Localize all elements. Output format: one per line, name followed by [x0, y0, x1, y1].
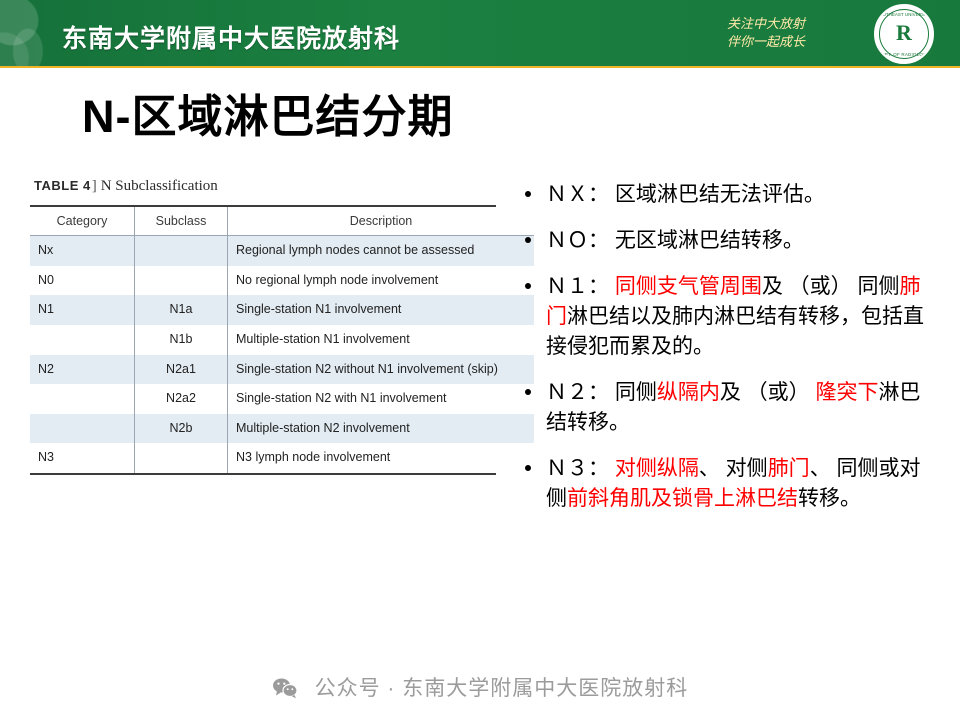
bullet-item-nx: ＮＸ： 区域淋巴结无法评估。	[520, 180, 940, 210]
bullet-dot-icon	[525, 389, 531, 395]
n-subclassification-figure: TABLE 4]N Subclassification Category Sub…	[30, 172, 496, 475]
table-row: Nx Regional lymph nodes cannot be assess…	[30, 236, 534, 266]
leaf-decoration-icon	[0, 0, 62, 68]
text-segment: 隆突下	[816, 381, 879, 404]
text-segment: ＮＸ： 区域淋巴结无法评估。	[546, 183, 825, 206]
hospital-logo: SOUTHEAST UNIVERSITY R DEPT. OF RADIOLOG…	[874, 4, 934, 64]
cell-description: Single-station N1 involvement	[228, 295, 535, 325]
header-slogan-line2: 伴你一起成长	[696, 33, 836, 51]
cell-subclass: N1a	[135, 295, 228, 325]
text-segment: Ｎ３：	[546, 457, 615, 480]
table-row: N0 No regional lymph node involvement	[30, 266, 534, 296]
column-header-category: Category	[30, 207, 135, 236]
cell-description: No regional lymph node involvement	[228, 266, 535, 296]
cell-subclass	[135, 443, 228, 473]
text-segment: 及 （或）	[720, 381, 816, 404]
table-row: N2 N2a1 Single-station N2 without N1 inv…	[30, 355, 534, 385]
bullet-item-n2: Ｎ２： 同侧纵隔内及 （或） 隆突下淋巴结转移。	[520, 378, 940, 438]
bullet-text-n2: Ｎ２： 同侧纵隔内及 （或） 隆突下淋巴结转移。	[546, 381, 921, 434]
header-title: 东南大学附属中大医院放射科	[62, 19, 400, 55]
header-bar: 东南大学附属中大医院放射科 关注中大放射 伴你一起成长 SOUTHEAST UN…	[0, 0, 960, 68]
column-header-subclass: Subclass	[135, 207, 228, 236]
text-segment: 及 （或） 同侧	[762, 275, 900, 298]
bullet-dot-icon	[525, 237, 531, 243]
header-slogan: 关注中大放射 伴你一起成长	[696, 15, 836, 51]
cell-description: Regional lymph nodes cannot be assessed	[228, 236, 535, 266]
cell-category: N1	[30, 295, 135, 325]
column-header-description: Description	[228, 207, 535, 236]
bullet-text-n3: Ｎ３： 对侧纵隔、 对侧肺门、 同侧或对侧前斜角肌及锁骨上淋巴结转移。	[546, 457, 921, 510]
bullet-item-n3: Ｎ３： 对侧纵隔、 对侧肺门、 同侧或对侧前斜角肌及锁骨上淋巴结转移。	[520, 454, 940, 514]
cell-description: Multiple-station N2 involvement	[228, 414, 535, 444]
cell-subclass: N2b	[135, 414, 228, 444]
logo-bottom-text: DEPT. OF RADIOLOGY	[876, 52, 932, 57]
text-segment: ＮＯ： 无区域淋巴结转移。	[546, 229, 804, 252]
cell-category	[30, 414, 135, 444]
text-segment: Ｎ２： 同侧	[546, 381, 657, 404]
figure-caption: TABLE 4]N Subclassification	[30, 172, 496, 205]
text-segment: 、 对侧	[699, 457, 768, 480]
cell-subclass	[135, 266, 228, 296]
table-row: N1 N1a Single-station N1 involvement	[30, 295, 534, 325]
table-label: TABLE 4	[34, 178, 91, 193]
table-caption-text: N Subclassification	[101, 178, 218, 194]
cell-category: Nx	[30, 236, 135, 266]
header-slogan-line1: 关注中大放射	[696, 15, 836, 33]
text-segment: 纵隔内	[657, 381, 720, 404]
logo-monogram: R	[876, 20, 932, 46]
bullet-text-nx: ＮＸ： 区域淋巴结无法评估。	[546, 183, 825, 206]
table-row: N2a2 Single-station N2 with N1 involveme…	[30, 384, 534, 414]
cell-subclass: N2a2	[135, 384, 228, 414]
text-segment: 淋巴结以及肺内淋巴结有转移，包括直接侵犯而累及的。	[546, 305, 924, 358]
cell-description: Single-station N2 with N1 involvement	[228, 384, 535, 414]
bullet-item-n0: ＮＯ： 无区域淋巴结转移。	[520, 226, 940, 256]
cell-subclass: N1b	[135, 325, 228, 355]
wechat-icon	[272, 677, 298, 699]
text-segment: 肺门	[768, 457, 810, 480]
cell-subclass: N2a1	[135, 355, 228, 385]
cell-category	[30, 384, 135, 414]
table-body: Nx Regional lymph nodes cannot be assess…	[30, 236, 534, 474]
logo-top-text: SOUTHEAST UNIVERSITY	[876, 12, 932, 17]
cell-description: N3 lymph node involvement	[228, 443, 535, 473]
table-label-bracket: ]	[91, 178, 101, 194]
bullet-text-n1: Ｎ１： 同侧支气管周围及 （或） 同侧肺门淋巴结以及肺内淋巴结有转移，包括直接侵…	[546, 275, 924, 358]
bullet-dot-icon	[525, 191, 531, 197]
text-segment: 前斜角肌及锁骨上淋巴结	[567, 487, 798, 510]
text-segment: Ｎ１：	[546, 275, 615, 298]
n-subclassification-table: Category Subclass Description Nx Regiona…	[30, 207, 534, 473]
bullet-dot-icon	[525, 283, 531, 289]
text-segment: 对侧纵隔	[615, 457, 699, 480]
cell-subclass	[135, 236, 228, 266]
cell-category: N3	[30, 443, 135, 473]
header-gold-rule	[0, 66, 960, 68]
footer: 公众号 · 东南大学附属中大医院放射科	[0, 672, 960, 702]
bullet-dot-icon	[525, 465, 531, 471]
table-row: N3 N3 lymph node involvement	[30, 443, 534, 473]
bullet-text-n0: ＮＯ： 无区域淋巴结转移。	[546, 229, 804, 252]
cell-description: Single-station N2 without N1 involvement…	[228, 355, 535, 385]
cell-description: Multiple-station N1 involvement	[228, 325, 535, 355]
footer-text: 公众号 · 东南大学附属中大医院放射科	[315, 677, 689, 700]
cell-category	[30, 325, 135, 355]
text-segment: 转移。	[798, 487, 861, 510]
cell-category: N2	[30, 355, 135, 385]
figure-bottom-rule	[30, 473, 496, 475]
table-header-row: Category Subclass Description	[30, 207, 534, 236]
text-segment: 同侧支气管周围	[615, 275, 762, 298]
cell-category: N0	[30, 266, 135, 296]
bullet-item-n1: Ｎ１： 同侧支气管周围及 （或） 同侧肺门淋巴结以及肺内淋巴结有转移，包括直接侵…	[520, 272, 940, 362]
table-row: N2b Multiple-station N2 involvement	[30, 414, 534, 444]
table-row: N1b Multiple-station N1 involvement	[30, 325, 534, 355]
page-title: N-区域淋巴结分期	[82, 80, 453, 145]
bullet-list: ＮＸ： 区域淋巴结无法评估。 ＮＯ： 无区域淋巴结转移。 Ｎ１： 同侧支气管周围…	[520, 180, 940, 530]
